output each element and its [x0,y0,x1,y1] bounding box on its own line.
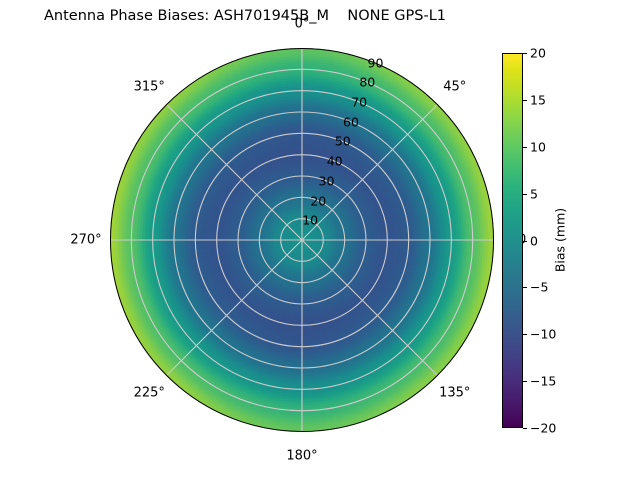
theta-tick-0: 0° [295,17,310,32]
theta-tick-270: 270° [70,233,101,248]
r-tick-30: 30 [319,173,335,188]
colorbar-tick-label: 0 [530,233,538,248]
colorbar-tick-label: 10 [530,139,546,154]
figure-canvas: Antenna Phase Biases: ASH701945B_M NONE … [0,0,640,480]
page-title: Antenna Phase Biases: ASH701945B_M NONE … [0,8,490,24]
colorbar[interactable]: 20151050−5−10−15−20 [502,53,523,428]
colorbar-tick-label: −20 [530,421,556,436]
colorbar-tick-mark [523,381,527,382]
theta-tick-45: 45° [443,80,466,95]
colorbar-tick-mark [523,100,527,101]
colorbar-tick-label: 15 [530,92,546,107]
polar-heatmap-surface [110,48,494,432]
r-tick-90: 90 [368,55,384,70]
colorbar-tick-mark [523,53,527,54]
colorbar-tick-label: 5 [530,186,538,201]
colorbar-tick-label: 20 [530,46,546,61]
theta-tick-180: 180° [286,449,317,464]
colorbar-tick-label: −10 [530,327,556,342]
theta-tick-315: 315° [134,80,165,95]
polar-gridlines [110,48,494,432]
colorbar-tick-label: −5 [530,280,548,295]
colorbar-tick-mark [523,334,527,335]
r-tick-20: 20 [310,193,326,208]
theta-tick-135: 135° [439,385,470,400]
polar-field-svg [110,48,494,432]
colorbar-tick-mark [523,147,527,148]
colorbar-gradient [502,53,523,428]
polar-axes[interactable]: 0°45°90135°180°225°270°315° 102030405060… [110,48,494,432]
theta-tick-225: 225° [134,385,165,400]
colorbar-tick-mark [523,287,527,288]
r-tick-60: 60 [343,114,359,129]
r-tick-50: 50 [335,134,351,149]
colorbar-axis-label: Bias (mm) [553,208,568,272]
colorbar-tick-mark [523,241,527,242]
r-tick-10: 10 [302,213,318,228]
colorbar-tick-mark [523,428,527,429]
r-tick-70: 70 [351,95,367,110]
r-tick-80: 80 [359,75,375,90]
r-tick-40: 40 [327,154,343,169]
colorbar-tick-label: −15 [530,374,556,389]
colorbar-tick-mark [523,194,527,195]
